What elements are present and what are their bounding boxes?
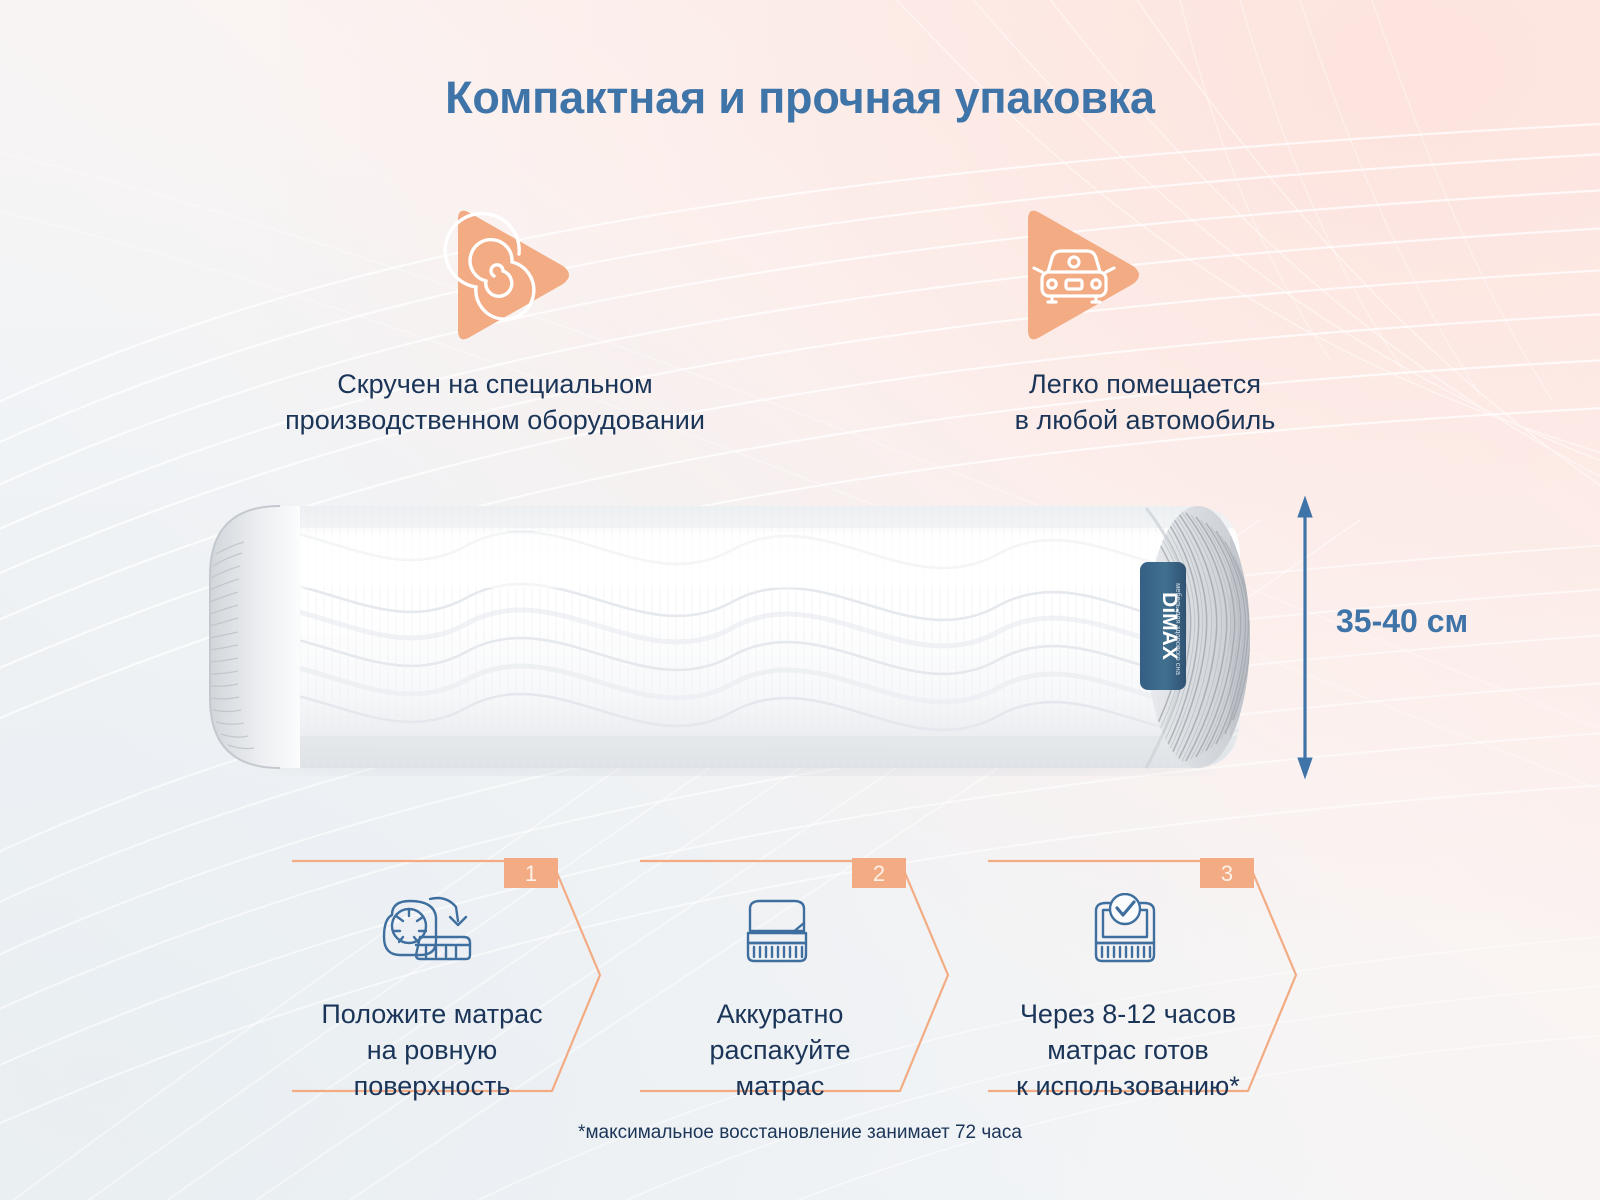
steps-row: 1 — [290, 845, 1300, 1105]
feature-caption: Легко помещается в любой автомобиль — [905, 366, 1385, 438]
brand-tag: DiMAX мебель для здорового сна — [1140, 562, 1186, 690]
rolled-mattress-unroll-icon — [368, 893, 488, 973]
step-item-3: 3 Через 8-12 часов мат — [986, 845, 1341, 1105]
step-item-1: 1 — [290, 845, 645, 1105]
svg-text:мебель для здорового сна: мебель для здорового сна — [1174, 583, 1183, 676]
spiral-roll-badge — [430, 200, 580, 350]
step-caption: Аккуратно распакуйте матрас — [630, 997, 930, 1105]
footnote: *максимальное восстановление занимает 72… — [0, 1122, 1600, 1144]
feature-rolled-on-equipment: Скручен на специальном производственном … — [185, 200, 805, 438]
feature-caption: Скручен на специальном производственном … — [185, 366, 805, 438]
step-caption: Через 8-12 часов матрас готов к использо… — [978, 997, 1278, 1105]
page-title: Компактная и прочная упаковка — [0, 72, 1600, 124]
mattress-check-icon — [1064, 893, 1184, 973]
mattress-unpack-icon — [716, 893, 836, 973]
double-headed-vertical-arrow — [1298, 497, 1312, 778]
step-item-2: 2 Аккуратно расп — [638, 845, 993, 1105]
step-caption: Положите матрас на ровную поверхность — [282, 997, 582, 1105]
car-front-badge — [1000, 200, 1150, 350]
rolled-mattress-photo: DiMAX мебель для здорового сна — [180, 498, 1290, 776]
height-dimension: 35-40 см — [1280, 495, 1580, 780]
feature-fits-in-any-car: Легко помещается в любой автомобиль — [905, 200, 1385, 438]
dimension-label: 35-40 см — [1336, 603, 1468, 640]
